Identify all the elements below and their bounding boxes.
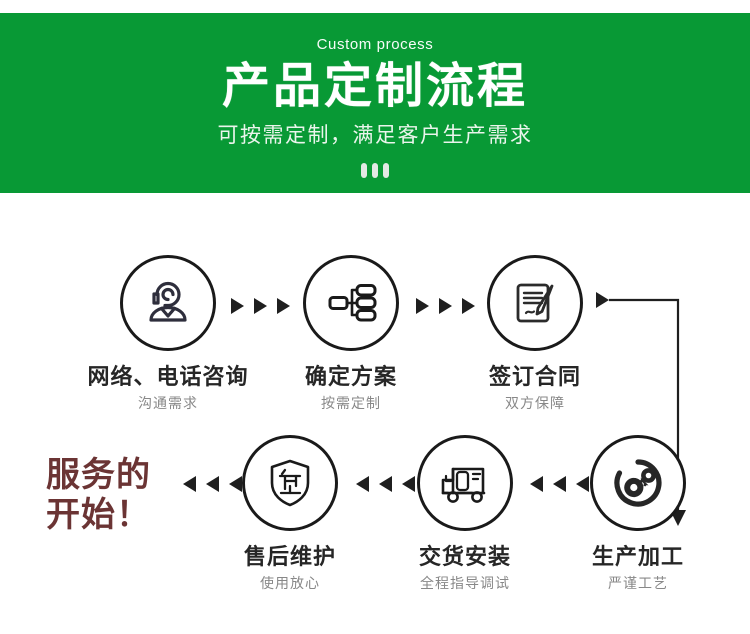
production-icon-circle: [590, 435, 686, 531]
gears-production-icon: [607, 452, 669, 514]
headset-person-icon: [137, 272, 199, 334]
step-subtitle: 沟通需求: [78, 396, 258, 411]
shield-after-sales-icon: [259, 452, 321, 514]
after-sales-icon-circle: [242, 435, 338, 531]
process-step-plan[interactable]: 确定方案 按需定制: [261, 255, 441, 412]
dot-2: [372, 163, 378, 178]
banner-eyebrow: Custom process: [317, 37, 434, 52]
consultation-icon-circle: [120, 255, 216, 351]
decorative-dots: [361, 163, 389, 178]
contract-pen-icon: [504, 272, 566, 334]
triangle-left-icon: [356, 476, 369, 492]
triangle-right-icon: [231, 298, 244, 314]
delivery-icon-circle: [417, 435, 513, 531]
step-subtitle: 严谨工艺: [548, 576, 728, 591]
step-subtitle: 全程指导调试: [375, 576, 555, 591]
delivery-truck-icon: [434, 452, 496, 514]
triangle-right-icon: [416, 298, 429, 314]
process-step-production[interactable]: 生产加工 严谨工艺: [548, 435, 728, 592]
step-title: 售后维护: [200, 545, 380, 569]
plan-icon-circle: [303, 255, 399, 351]
step-title: 确定方案: [261, 365, 441, 389]
service-start-line-1: 服务的: [46, 455, 206, 495]
step-title: 交货安装: [375, 545, 555, 569]
step-subtitle: 使用放心: [200, 576, 380, 591]
header-banner: Custom process 产品定制流程 可按需定制，满足客户生产需求: [0, 13, 750, 193]
step-title: 生产加工: [548, 545, 728, 569]
banner-subtitle: 可按需定制，满足客户生产需求: [218, 125, 533, 146]
page-title: 产品定制流程: [222, 61, 528, 113]
process-flow: 网络、电话咨询 沟通需求 确定方案 按需定制: [0, 193, 750, 634]
process-step-after-sales[interactable]: 售后维护 使用放心: [200, 435, 380, 592]
step-subtitle: 按需定制: [261, 396, 441, 411]
process-step-consultation[interactable]: 网络、电话咨询 沟通需求: [78, 255, 258, 412]
contract-icon-circle: [487, 255, 583, 351]
triangle-right-icon: [596, 292, 609, 308]
dot-3: [383, 163, 389, 178]
triangle-left-icon: [183, 476, 196, 492]
service-start-line-2: 开始！: [46, 495, 206, 535]
dot-1: [361, 163, 367, 178]
process-step-delivery[interactable]: 交货安装 全程指导调试: [375, 435, 555, 592]
step-title: 网络、电话咨询: [78, 365, 258, 389]
triangle-left-icon: [530, 476, 543, 492]
service-start-heading: 服务的 开始！: [46, 455, 206, 535]
org-chart-icon: [320, 272, 382, 334]
